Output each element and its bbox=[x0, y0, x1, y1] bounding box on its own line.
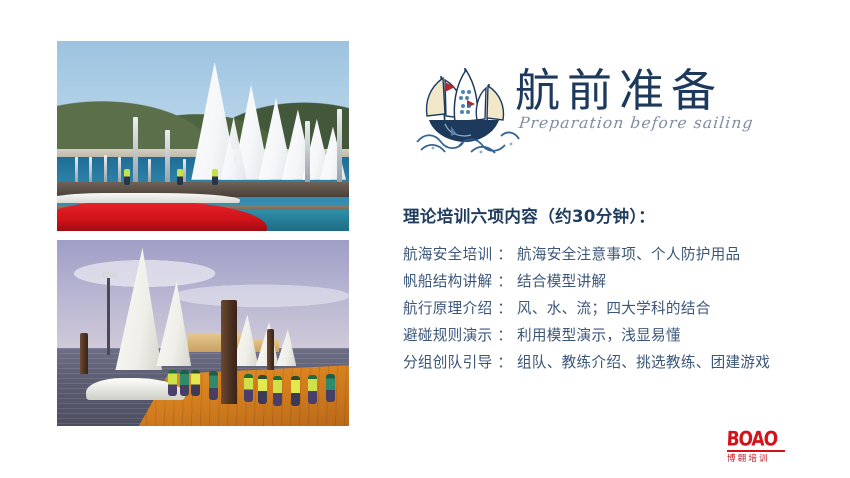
item-separator: ： bbox=[492, 268, 517, 295]
title-block: 航前准备 Preparation before sailing bbox=[515, 68, 754, 132]
slide-title-en: Preparation before sailing bbox=[518, 114, 754, 132]
marina-sailboats-photo bbox=[57, 41, 349, 231]
slide-title-cn: 航前准备 bbox=[515, 68, 754, 116]
item-value: 结合模型讲解 bbox=[517, 268, 606, 295]
item-value: 风、水、流；四大学科的结合 bbox=[517, 295, 711, 322]
item-separator: ： bbox=[492, 322, 517, 349]
item-value: 航海安全注意事项、个人防护用品 bbox=[517, 241, 740, 268]
brand-logo: BOAO 博翱培训 bbox=[727, 430, 789, 464]
item-value: 利用模型演示，浅显易懂 bbox=[517, 322, 681, 349]
sailing-ship-illustration-icon bbox=[415, 62, 523, 158]
brand-name-cn: 博翱培训 bbox=[727, 454, 789, 464]
list-item: 避碰规则演示 ： 利用模型演示，浅显易懂 bbox=[403, 322, 833, 349]
item-label: 航海安全培训 bbox=[403, 241, 492, 268]
slide-canvas: 航前准备 Preparation before sailing 理论培训六项内容… bbox=[0, 0, 850, 478]
list-item: 航海安全培训 ： 航海安全注意事项、个人防护用品 bbox=[403, 241, 833, 268]
item-label: 帆船结构讲解 bbox=[403, 268, 492, 295]
item-separator: ： bbox=[492, 295, 517, 322]
content-block: 理论培训六项内容（约30分钟）： 航海安全培训 ： 航海安全注意事项、个人防护用… bbox=[403, 203, 833, 376]
dock-training-photo bbox=[57, 240, 349, 426]
slide-header: 航前准备 Preparation before sailing bbox=[415, 62, 835, 162]
list-item: 分组创队引导 ： 组队、教练介绍、挑选教练、团建游戏 bbox=[403, 349, 833, 376]
item-separator: ： bbox=[492, 349, 517, 376]
item-value: 组队、教练介绍、挑选教练、团建游戏 bbox=[517, 349, 770, 376]
item-label: 分组创队引导 bbox=[403, 349, 492, 376]
item-separator: ： bbox=[492, 241, 517, 268]
training-items-list: 航海安全培训 ： 航海安全注意事项、个人防护用品 帆船结构讲解 ： 结合模型讲解… bbox=[403, 241, 833, 376]
item-label: 航行原理介绍 bbox=[403, 295, 492, 322]
list-item: 航行原理介绍 ： 风、水、流；四大学科的结合 bbox=[403, 295, 833, 322]
content-heading: 理论培训六项内容（约30分钟）： bbox=[403, 203, 833, 227]
list-item: 帆船结构讲解 ： 结合模型讲解 bbox=[403, 268, 833, 295]
item-label: 避碰规则演示 bbox=[403, 322, 492, 349]
brand-wordmark: BOAO bbox=[726, 430, 789, 450]
